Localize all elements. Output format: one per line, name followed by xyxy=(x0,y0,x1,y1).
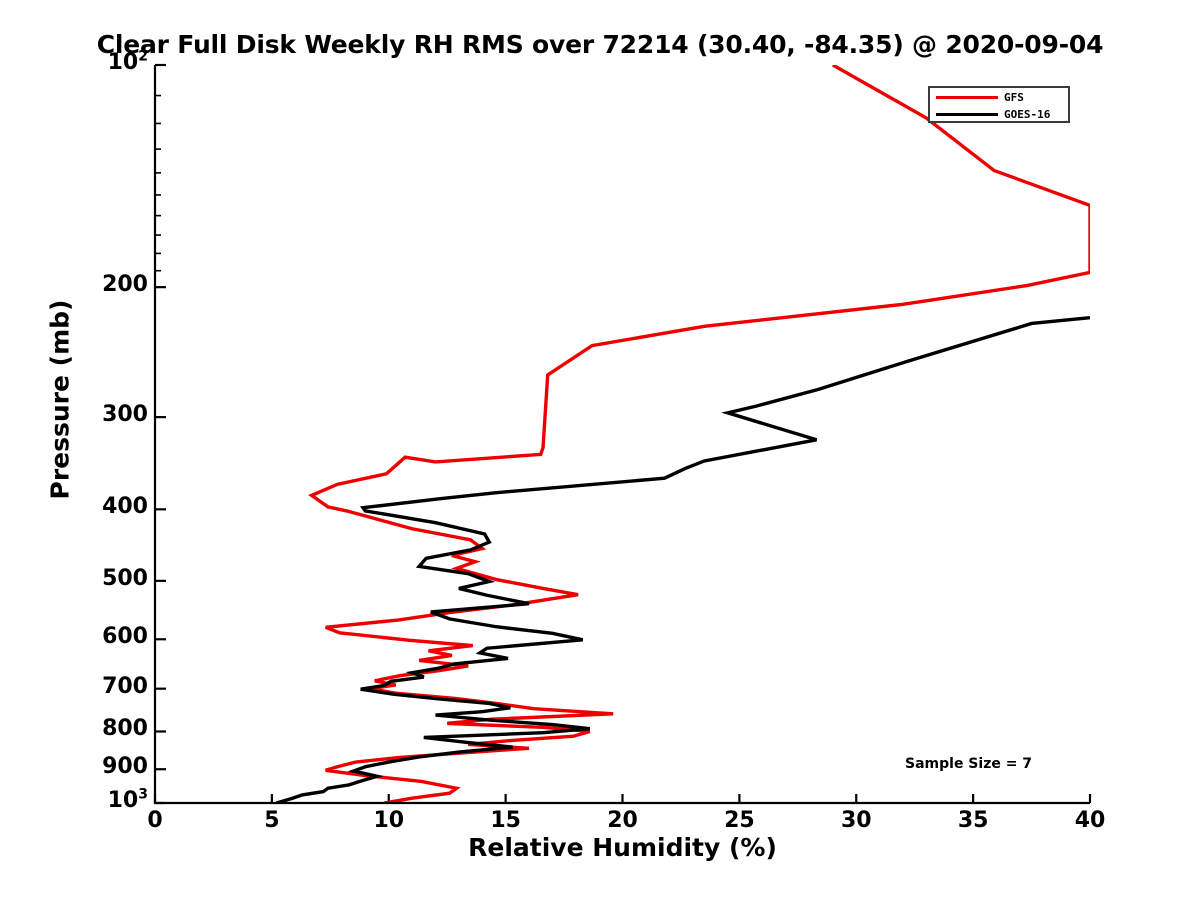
sample-size-annotation: Sample Size = 7 xyxy=(905,756,1032,772)
series-line-goes-16 xyxy=(277,318,1090,803)
legend-entry-goes16: GOES-16 xyxy=(930,106,1072,123)
legend-swatch-goes16 xyxy=(936,113,998,116)
axes-frame xyxy=(155,65,1090,803)
legend-entry-gfs: GFS xyxy=(930,89,1072,106)
legend-label-gfs: GFS xyxy=(1004,91,1024,104)
legend-label-goes16: GOES-16 xyxy=(1004,108,1050,121)
axis-spine xyxy=(155,65,1090,803)
series-line-gfs xyxy=(312,65,1090,803)
legend-swatch-gfs xyxy=(936,96,998,99)
data-series-group xyxy=(277,65,1090,803)
legend: GFS GOES-16 xyxy=(928,86,1070,123)
axis-ticks xyxy=(155,65,1090,803)
rh-rms-profile-figure: Clear Full Disk Weekly RH RMS over 72214… xyxy=(0,0,1200,900)
